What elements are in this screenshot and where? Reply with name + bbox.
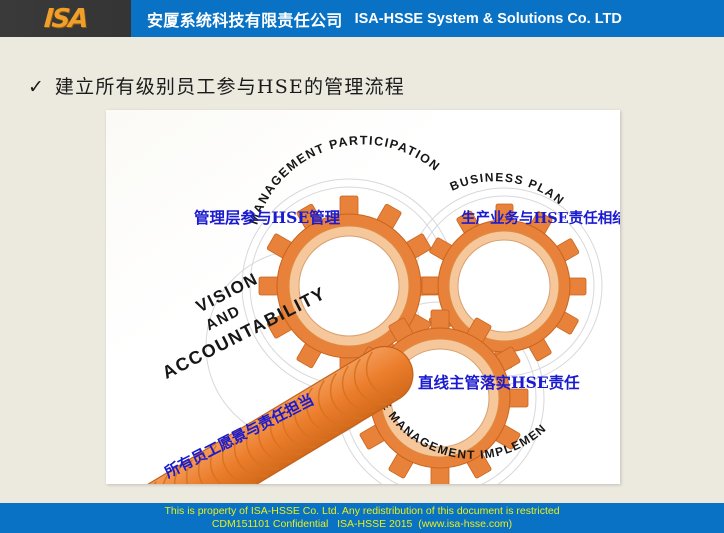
label-line-management: 直线主管落实HSE责任 [418, 373, 580, 392]
isa-logo-text: ISA [43, 4, 88, 34]
slide-title-text: 建立所有级别员工参与HSE的管理流程 [55, 72, 405, 99]
page-header: ISA 安厦系统科技有限责任公司 ISA-HSSE System & Solut… [0, 0, 724, 37]
page-footer: This is property of ISA-HSSE Co. Ltd. An… [0, 503, 724, 533]
header-title-bar: 安厦系统科技有限责任公司 ISA-HSSE System & Solutions… [131, 0, 724, 37]
footer-line-1: This is property of ISA-HSSE Co. Ltd. An… [164, 505, 559, 518]
diagram-panel: MANAGEMENT PARTICIPATION [106, 110, 620, 484]
checkmark-icon: ✓ [28, 76, 44, 98]
footer-line-2: CDM151101 Confidential ISA-HSSE 2015 (ww… [212, 518, 512, 531]
label-business-plan: 生产业务与HSE责任相结合 [461, 209, 620, 227]
slide-title: ✓ 建立所有级别员工参与HSE的管理流程 [28, 72, 405, 99]
company-name-english: ISA-HSSE System & Solutions Co. LTD [355, 11, 622, 27]
company-name-chinese: 安厦系统科技有限责任公司 [147, 7, 343, 31]
isa-logo: ISA [0, 0, 131, 37]
gear-system-diagram: MANAGEMENT PARTICIPATION [106, 110, 620, 484]
label-management-participation: 管理层参与HSE管理 [194, 208, 341, 227]
